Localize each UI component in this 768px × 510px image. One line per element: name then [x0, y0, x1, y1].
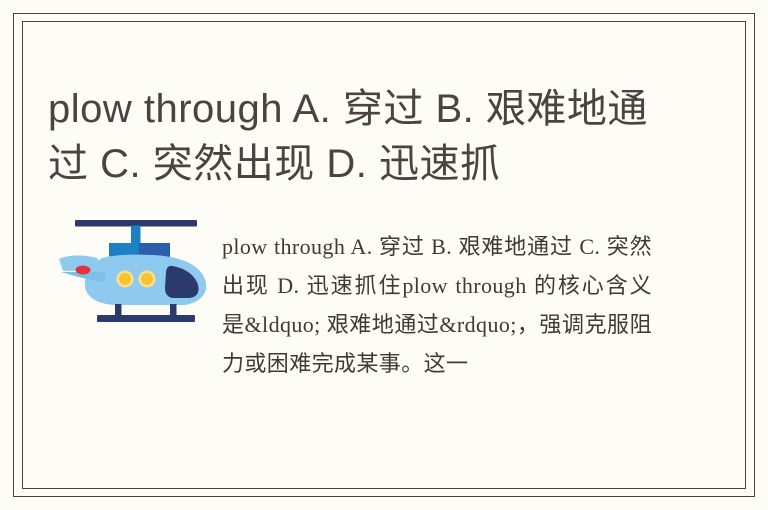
helicopter-illustration [54, 209, 219, 334]
page-content: plow through A. 穿过 B. 艰难地通过 C. 突然出现 D. 迅… [22, 21, 746, 489]
article-body: plow through A. 穿过 B. 艰难地通过 C. 突然出现 D. 迅… [222, 227, 652, 383]
page-title: plow through A. 穿过 B. 艰难地通过 C. 突然出现 D. 迅… [48, 82, 648, 192]
document-page: plow through A. 穿过 B. 艰难地通过 C. 突然出现 D. 迅… [0, 0, 768, 510]
article-section: plow through A. 穿过 B. 艰难地通过 C. 突然出现 D. 迅… [22, 201, 746, 489]
